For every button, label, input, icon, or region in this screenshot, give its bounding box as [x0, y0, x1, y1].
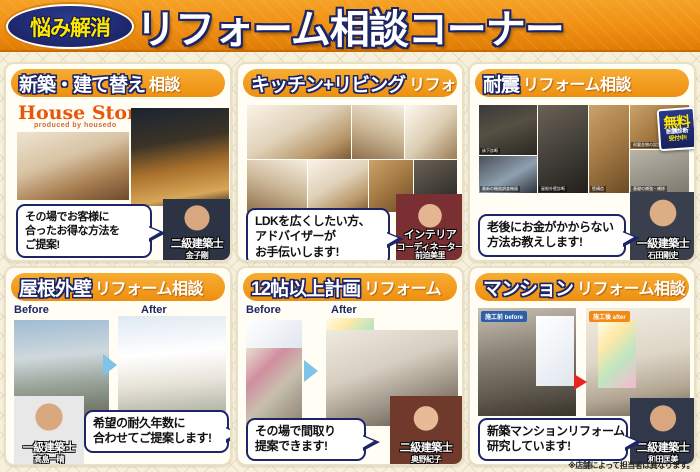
photo-mansion-plan-before — [536, 316, 574, 386]
poster-root: 悩み解消 リフォーム相談コーナー 新築・建て替え 相談 House Story … — [0, 0, 700, 472]
photo-caption: 壁構造 — [590, 186, 606, 192]
after-label: After — [141, 304, 167, 316]
photo-survey-equipment: 最新の機器調査機器 — [479, 156, 537, 193]
photo-living-4 — [247, 160, 307, 212]
photo-caption: 最新の機器調査機器 — [480, 186, 520, 192]
free-badge-line3: 受付中! — [669, 135, 687, 143]
bubble-new-build: その場でお客様に 合ったお得な方法を ご提案! — [16, 204, 152, 258]
staff-new-build: 二級建築士 金子剛 — [163, 199, 231, 262]
bubble-line: 研究しています! — [487, 439, 619, 454]
staff-mansion: 二級建築士 和田匡美 — [630, 398, 696, 466]
bubble-line: 提案できます! — [255, 439, 357, 454]
staff-title: 二級建築士 — [163, 235, 231, 251]
panel-title-sub: リフォーム相談 — [523, 71, 631, 95]
photo-mansion-plan-after — [598, 320, 636, 388]
staff-name: 奥野紀子 — [390, 454, 462, 465]
photo-under-floor: 床下診断 — [479, 105, 537, 155]
photo-living-2 — [352, 105, 404, 159]
panel-title-sub: リフォーム相談 — [577, 275, 685, 299]
bubble-line: LDKを広くしたい方、 — [255, 214, 381, 229]
photo-foundation-repair: 基礎の補強・補修 — [630, 150, 689, 193]
bubble-line: 希望の耐久年数に — [93, 416, 220, 431]
bubble-line: ご提案! — [25, 238, 143, 252]
panel-title-roof-wall: 屋根外壁 リフォーム相談 — [11, 273, 225, 301]
panel-title-sub: リフォーム相談 — [95, 275, 203, 299]
bubble-line: お手伝いします! — [255, 245, 381, 260]
before-label: Before — [14, 304, 49, 316]
panel-title-main: 耐震 — [483, 70, 519, 97]
panel-earthquake[interactable]: 耐震 リフォーム相談 床下診断 屋根外壁診断 壁構造 耐震金物の設置 基礎の補強… — [468, 62, 696, 262]
footnote: ※店舗によって担当者は異なります。 — [568, 460, 694, 471]
bubble-line: 方法お教えします! — [487, 235, 617, 250]
bubble-roof-wall: 希望の耐久年数に 合わせてご提案します! — [84, 410, 229, 453]
photo-interior-family — [17, 132, 129, 200]
free-inspection-badge[interactable]: 無料 耐震診断 受付中! — [657, 107, 696, 152]
panel-title-main: マンション — [483, 274, 573, 301]
arrow-right-icon — [304, 360, 318, 382]
panel-roof-wall[interactable]: 屋根外壁 リフォーム相談 Before After 希望の耐久年数に 合わせてご… — [4, 266, 232, 466]
photo-wall-structure: 壁構造 — [589, 105, 629, 193]
bubble-line: その場でお客様に — [25, 210, 143, 224]
panel-title-main: 新築・建て替え — [19, 70, 145, 97]
panel-title-kitchen-living: キッチン+リビング リフォーム相談 — [243, 69, 457, 97]
bubble-line: その場で間取り — [255, 424, 357, 439]
bubble-line: アドバイザーが — [255, 229, 381, 244]
photo-caption: 床下診断 — [480, 148, 500, 154]
before-label: Before — [246, 304, 281, 316]
staff-name: 石田剛史 — [630, 250, 696, 261]
bubble-line: 合わせてご提案します! — [93, 431, 220, 446]
panel-new-build[interactable]: 新築・建て替え 相談 House Story produced by house… — [4, 62, 232, 262]
house-story-tagline: produced by housedo — [34, 122, 117, 129]
photo-kitchen-before — [246, 348, 302, 424]
bubble-line: 合ったお得な方法を — [25, 224, 143, 238]
bubble-mansion: 新築マンションリフォーム 研究しています! — [478, 418, 628, 461]
bubble-12jo-plan: その場で間取り 提案できます! — [246, 418, 366, 461]
staff-kitchen-living: インテリア コーディネーター 前迫美里 — [396, 194, 464, 262]
panel-kitchen-living[interactable]: キッチン+リビング リフォーム相談 LDKを広くしたい方、 アドバイザーが お手… — [236, 62, 464, 262]
photo-roof-wall-inspection: 屋根外壁診断 — [538, 105, 588, 193]
header-badge: 悩み解消 — [6, 4, 134, 49]
after-label: After — [331, 304, 357, 316]
panel-title-sub: 相談 — [149, 71, 180, 95]
panel-title-sub: リフォーム — [364, 275, 441, 299]
photo-living-5 — [308, 160, 368, 212]
page-title: リフォーム相談コーナー — [136, 2, 564, 50]
photo-caption: 屋根外壁診断 — [539, 186, 567, 192]
header-banner: 悩み解消 リフォーム相談コーナー — [0, 0, 700, 52]
panel-title-new-build: 新築・建て替え 相談 — [11, 69, 225, 97]
panel-12jo-plan[interactable]: 12帖以上計画 リフォーム Before After その場で間取り 提案できま… — [236, 266, 464, 466]
bubble-earthquake: 老後にお金がかからない 方法お教えします! — [478, 214, 626, 257]
panel-mansion[interactable]: マンション リフォーム相談 施工前 before 施工後 after 新築マンシ… — [468, 266, 696, 466]
panel-title-main: キッチン+リビング — [251, 70, 405, 97]
staff-roof-wall: 一級建築士 高島一晴 — [14, 396, 84, 466]
photo-exterior-night — [131, 108, 229, 206]
panel-title-12jo-plan: 12帖以上計画 リフォーム — [243, 273, 457, 301]
panel-title-main: 屋根外壁 — [19, 274, 91, 301]
header-badge-label: 悩み解消 — [30, 12, 110, 42]
staff-title: 二級建築士 — [390, 439, 462, 455]
photo-floorplan-before — [246, 320, 302, 348]
staff-name: 前迫美里 — [396, 250, 464, 261]
photo-living-1 — [247, 105, 351, 159]
panel-title-mansion: マンション リフォーム相談 — [475, 273, 689, 301]
panel-title-main: 12帖以上計画 — [251, 274, 360, 301]
panel-title-sub: リフォーム相談 — [409, 71, 457, 95]
photo-living-3 — [405, 105, 457, 159]
tag-before: 施工前 before — [481, 311, 527, 322]
bubble-line: 新築マンションリフォーム — [487, 424, 619, 439]
arrow-right-icon — [574, 374, 587, 390]
staff-title: 一級建築士 — [14, 439, 84, 455]
panel-title-earthquake: 耐震 リフォーム相談 — [475, 69, 689, 97]
staff-12jo-plan: 二級建築士 奥野紀子 — [390, 396, 462, 466]
staff-name: 金子剛 — [163, 250, 231, 261]
bubble-kitchen-living: LDKを広くしたい方、 アドバイザーが お手伝いします! — [246, 208, 390, 262]
staff-earthquake: 一級建築士 石田剛史 — [630, 192, 696, 262]
staff-name: 高島一晴 — [14, 454, 84, 465]
house-story-logo: House Story — [18, 102, 148, 124]
bubble-line: 老後にお金がかからない — [487, 220, 617, 235]
arrow-right-icon — [103, 354, 117, 376]
tag-after: 施工後 after — [589, 311, 630, 322]
